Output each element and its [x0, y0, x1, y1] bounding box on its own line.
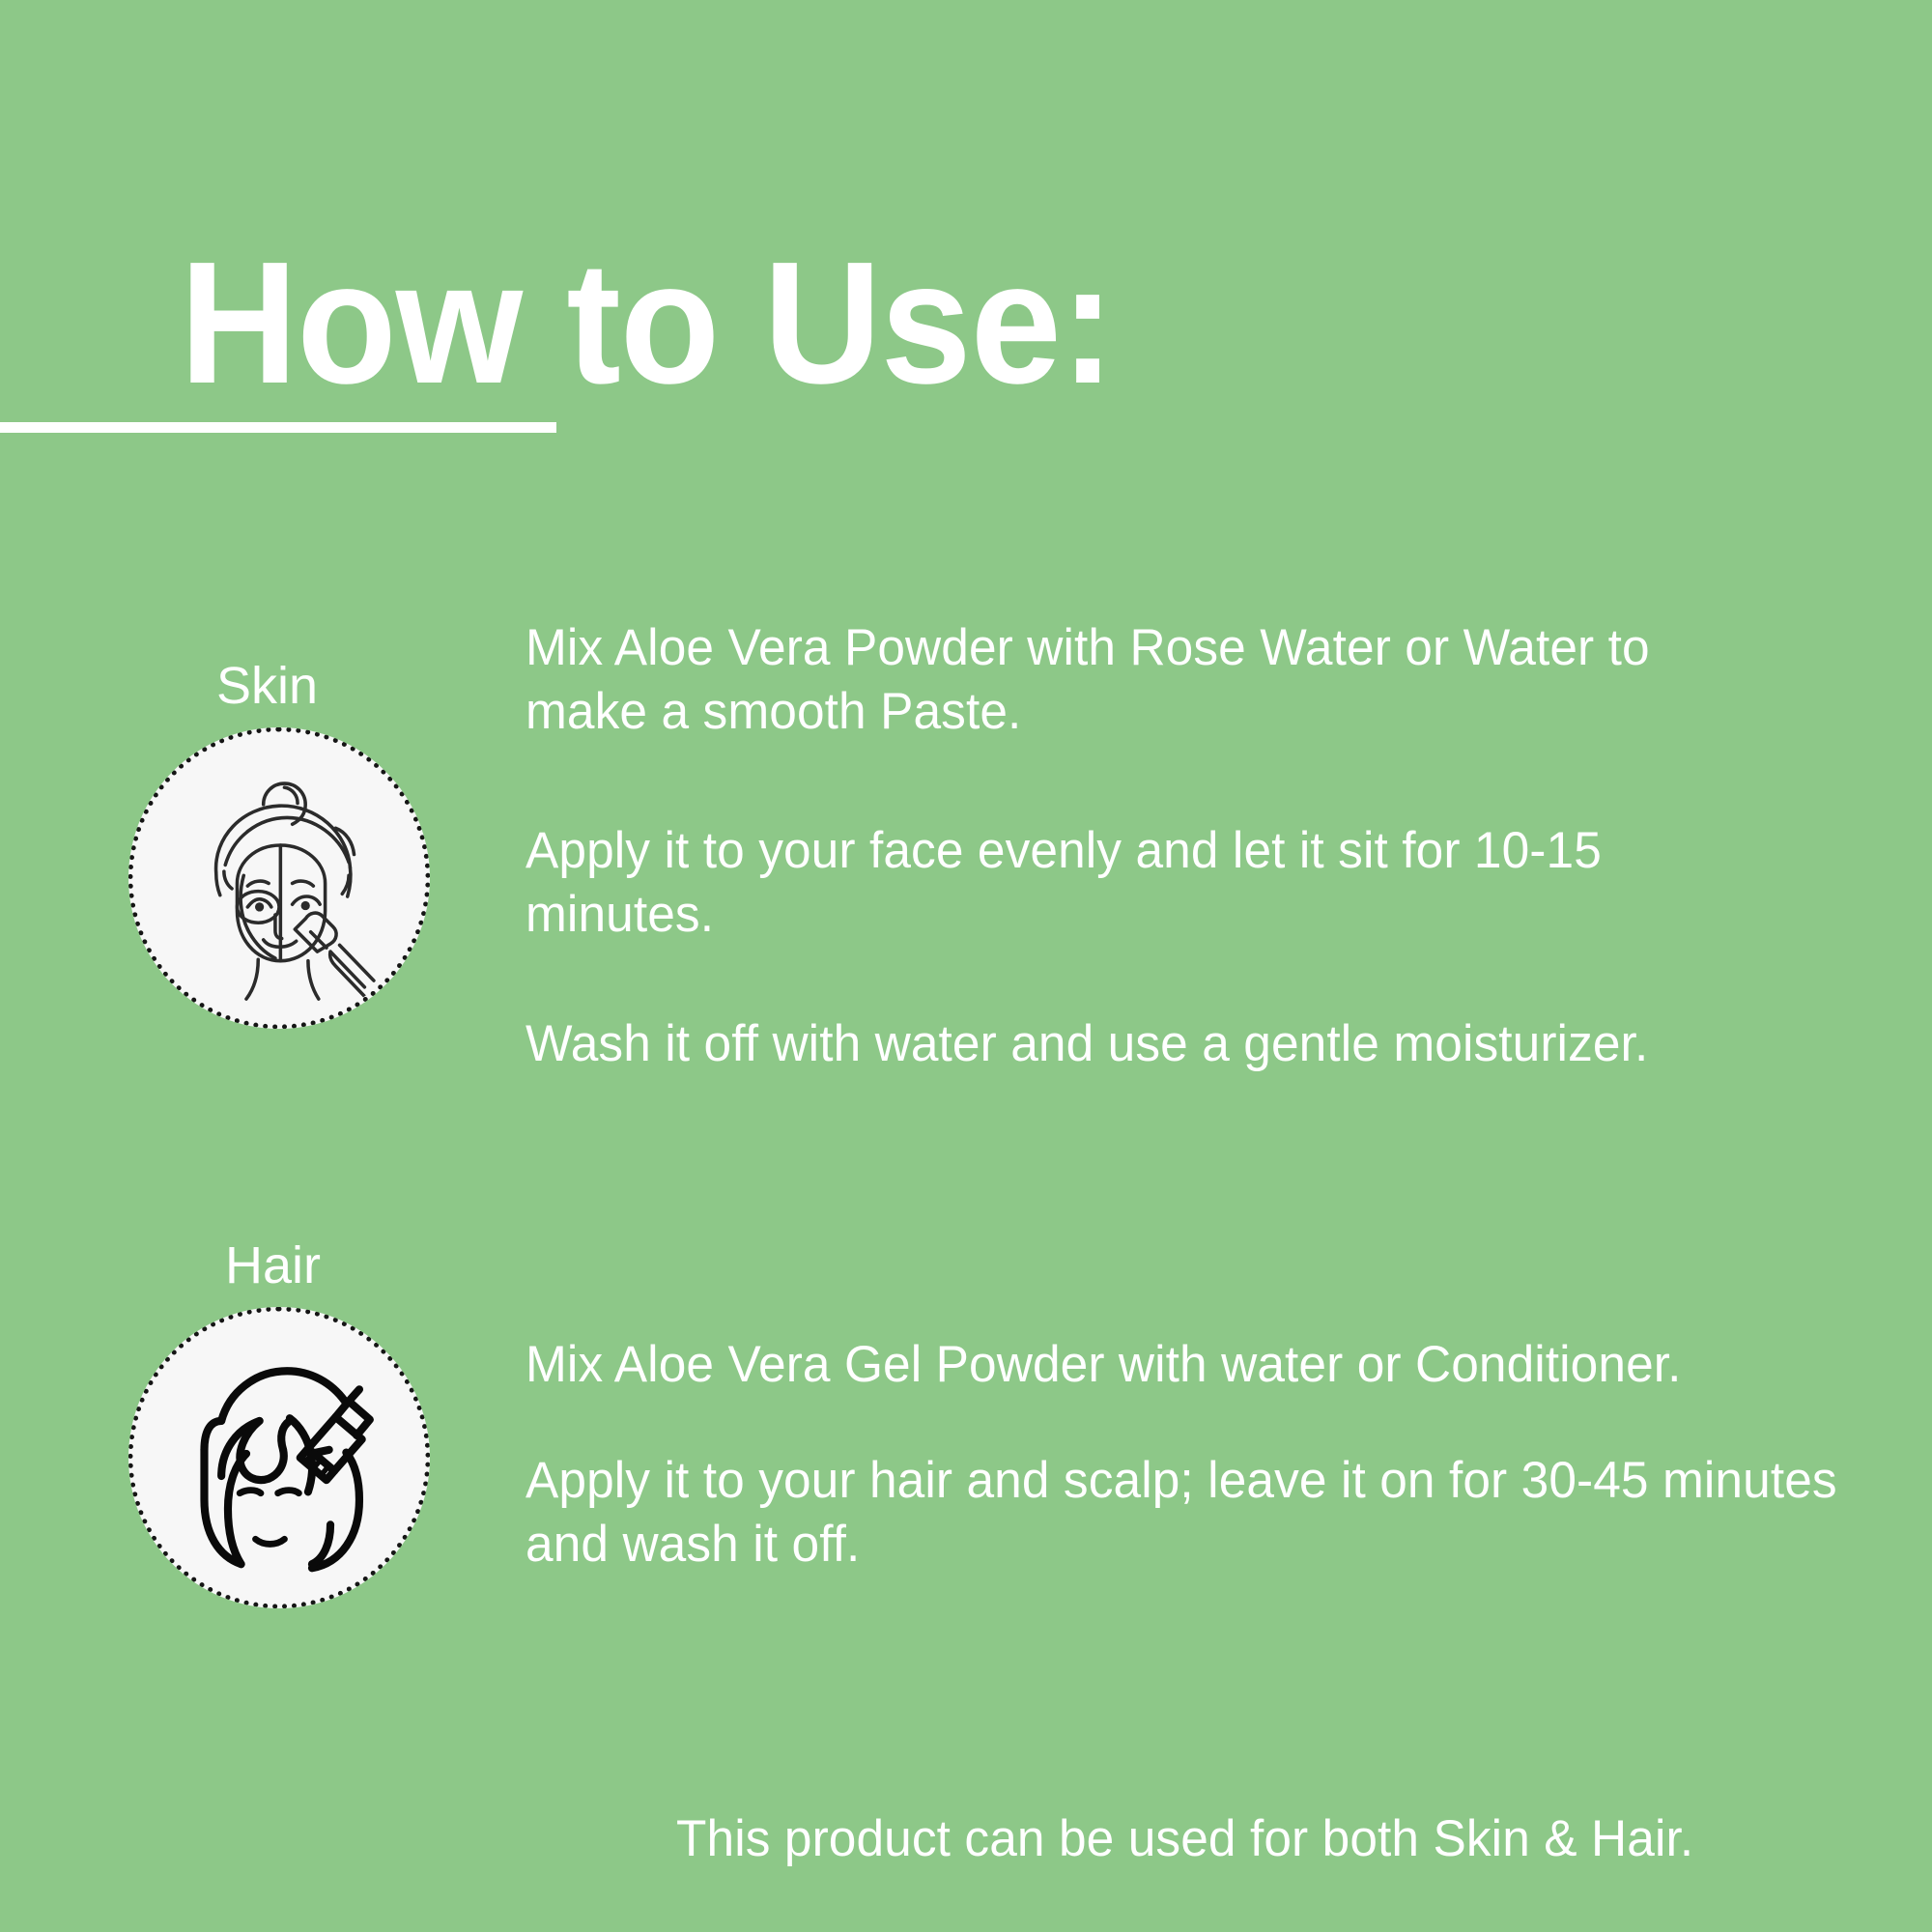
title-underline-divider: [0, 422, 556, 433]
skin-step-2-text: Apply it to your face evenly and let it …: [526, 819, 1781, 946]
how-to-use-infographic: How to Use: Skin: [0, 0, 1932, 1932]
section-label-skin: Skin: [216, 660, 318, 712]
hair-step-2-text: Apply it to your hair and scalp; leave i…: [526, 1449, 1837, 1576]
skin-step-3-text: Wash it off with water and use a gentle …: [526, 1012, 1837, 1076]
section-label-hair: Hair: [225, 1239, 321, 1292]
page-title: How to Use:: [180, 237, 1114, 411]
face-mask-application-icon: [128, 727, 430, 1029]
hair-brush-application-icon: [128, 1307, 430, 1608]
skin-step-1-text: Mix Aloe Vera Powder with Rose Water or …: [526, 616, 1781, 743]
footer-note: This product can be used for both Skin &…: [676, 1808, 1838, 1870]
hair-step-1-text: Mix Aloe Vera Gel Powder with water or C…: [526, 1333, 1837, 1397]
